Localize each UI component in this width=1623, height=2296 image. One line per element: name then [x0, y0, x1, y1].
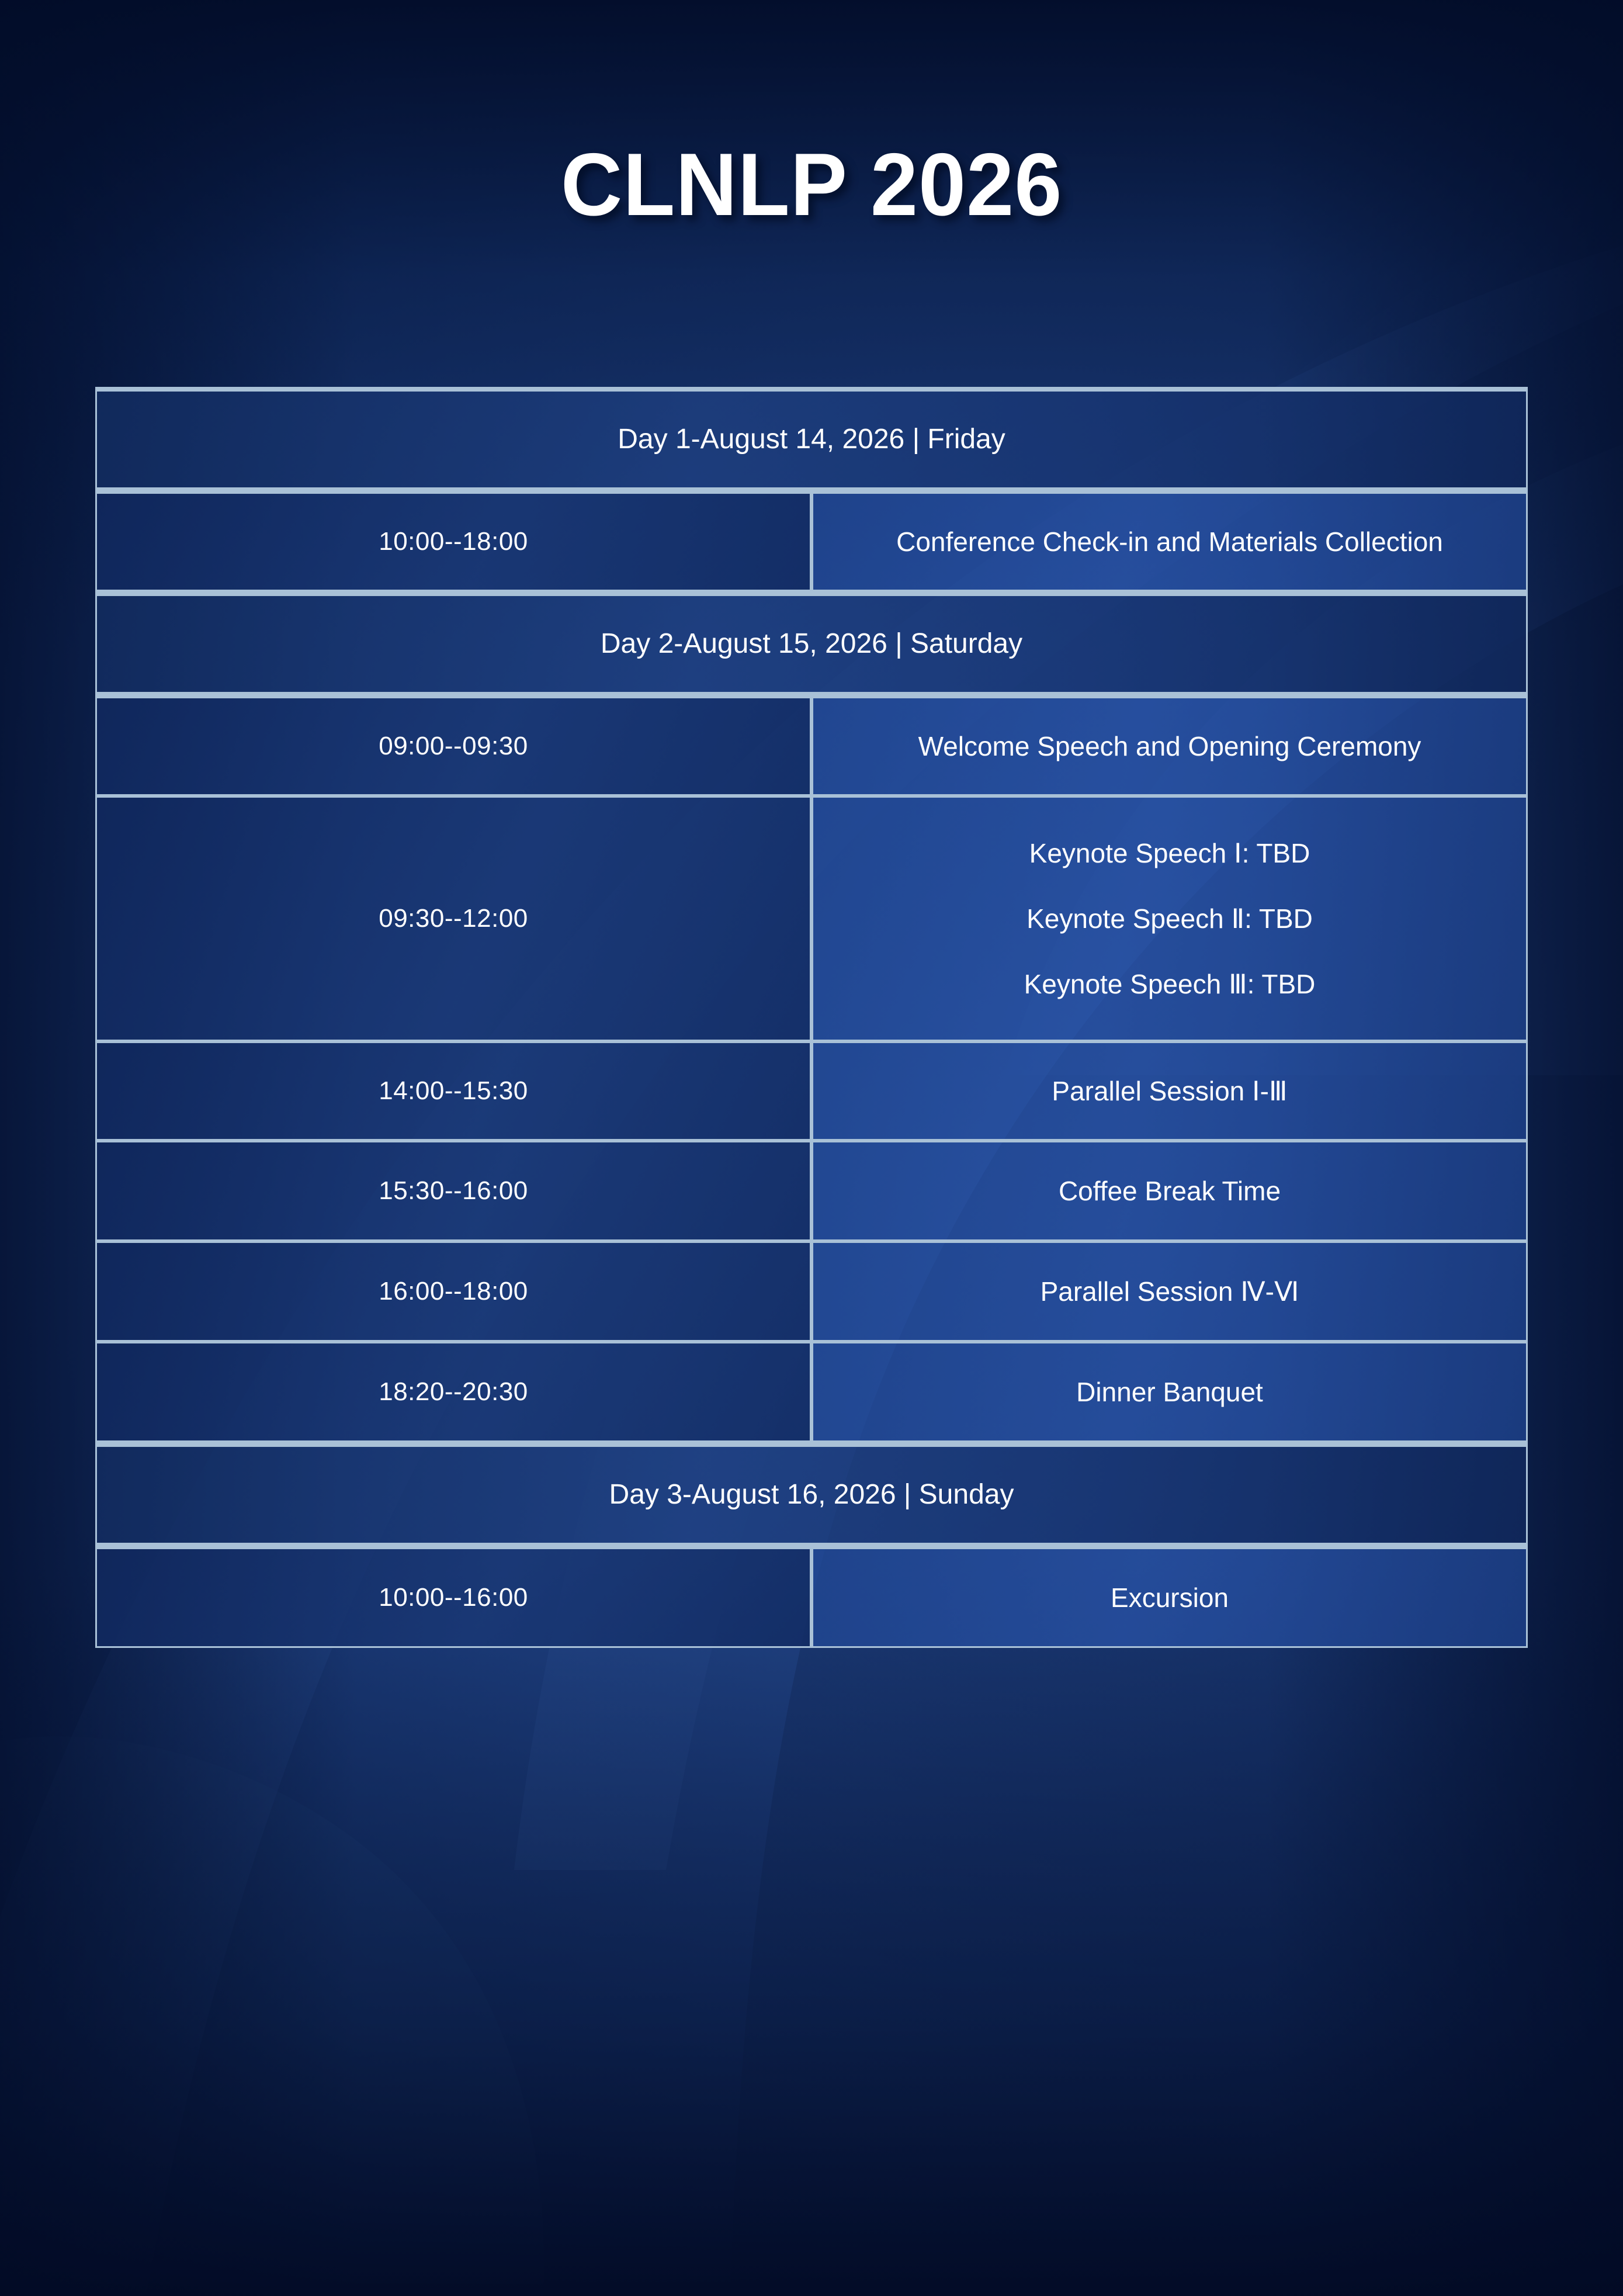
schedule-body: Day 1-August 14, 2026 | Friday 10:00--18…	[95, 387, 1528, 1648]
day-header-row: Day 3-August 16, 2026 | Sunday	[95, 1442, 1528, 1547]
time-cell: 15:30--16:00	[95, 1141, 812, 1241]
activity-cell: Coffee Break Time	[812, 1141, 1528, 1241]
time-cell: 10:00--18:00	[95, 492, 812, 591]
table-row: 10:00--16:00 Excursion	[95, 1547, 1528, 1648]
keynote-speech-item: Keynote Speech Ⅲ: TBD	[813, 966, 1526, 1002]
activity-cell: Keynote Speech Ⅰ: TBD Keynote Speech Ⅱ: …	[812, 796, 1528, 1041]
table-row: 10:00--18:00 Conference Check-in and Mat…	[95, 492, 1528, 591]
table-row: 09:00--09:30 Welcome Speech and Opening …	[95, 697, 1528, 796]
day-header-row: Day 1-August 14, 2026 | Friday	[95, 387, 1528, 492]
day-header-cell-day3: Day 3-August 16, 2026 | Sunday	[95, 1442, 1528, 1547]
time-cell: 16:00--18:00	[95, 1241, 812, 1342]
page-title: CLNLP 2026	[561, 140, 1062, 229]
day-header-cell-day1: Day 1-August 14, 2026 | Friday	[95, 387, 1528, 492]
activity-cell: Welcome Speech and Opening Ceremony	[812, 697, 1528, 796]
keynote-speech-item: Keynote Speech Ⅰ: TBD	[813, 835, 1526, 871]
time-cell: 09:00--09:30	[95, 697, 812, 796]
activity-cell: Conference Check-in and Materials Collec…	[812, 492, 1528, 591]
time-cell: 18:20--20:30	[95, 1342, 812, 1442]
activity-cell: Parallel Session Ⅰ-Ⅲ	[812, 1041, 1528, 1141]
activity-cell: Excursion	[812, 1547, 1528, 1648]
keynote-speech-item: Keynote Speech Ⅱ: TBD	[813, 901, 1526, 937]
table-row: 14:00--15:30 Parallel Session Ⅰ-Ⅲ	[95, 1041, 1528, 1141]
time-cell: 14:00--15:30	[95, 1041, 812, 1141]
table-row: 16:00--18:00 Parallel Session Ⅳ-Ⅵ	[95, 1241, 1528, 1342]
time-cell: 10:00--16:00	[95, 1547, 812, 1648]
table-row: 18:20--20:30 Dinner Banquet	[95, 1342, 1528, 1442]
page-title-container: CLNLP 2026	[0, 140, 1623, 229]
conference-schedule-table: Day 1-August 14, 2026 | Friday 10:00--18…	[95, 387, 1528, 1648]
table-row: 15:30--16:00 Coffee Break Time	[95, 1141, 1528, 1241]
table-row: 09:30--12:00 Keynote Speech Ⅰ: TBD Keyno…	[95, 796, 1528, 1041]
activity-cell: Dinner Banquet	[812, 1342, 1528, 1442]
activity-cell: Parallel Session Ⅳ-Ⅵ	[812, 1241, 1528, 1342]
keynote-speech-list: Keynote Speech Ⅰ: TBD Keynote Speech Ⅱ: …	[813, 827, 1526, 1010]
time-cell: 09:30--12:00	[95, 796, 812, 1041]
day-header-row: Day 2-August 15, 2026 | Saturday	[95, 591, 1528, 697]
day-header-cell-day2: Day 2-August 15, 2026 | Saturday	[95, 591, 1528, 697]
